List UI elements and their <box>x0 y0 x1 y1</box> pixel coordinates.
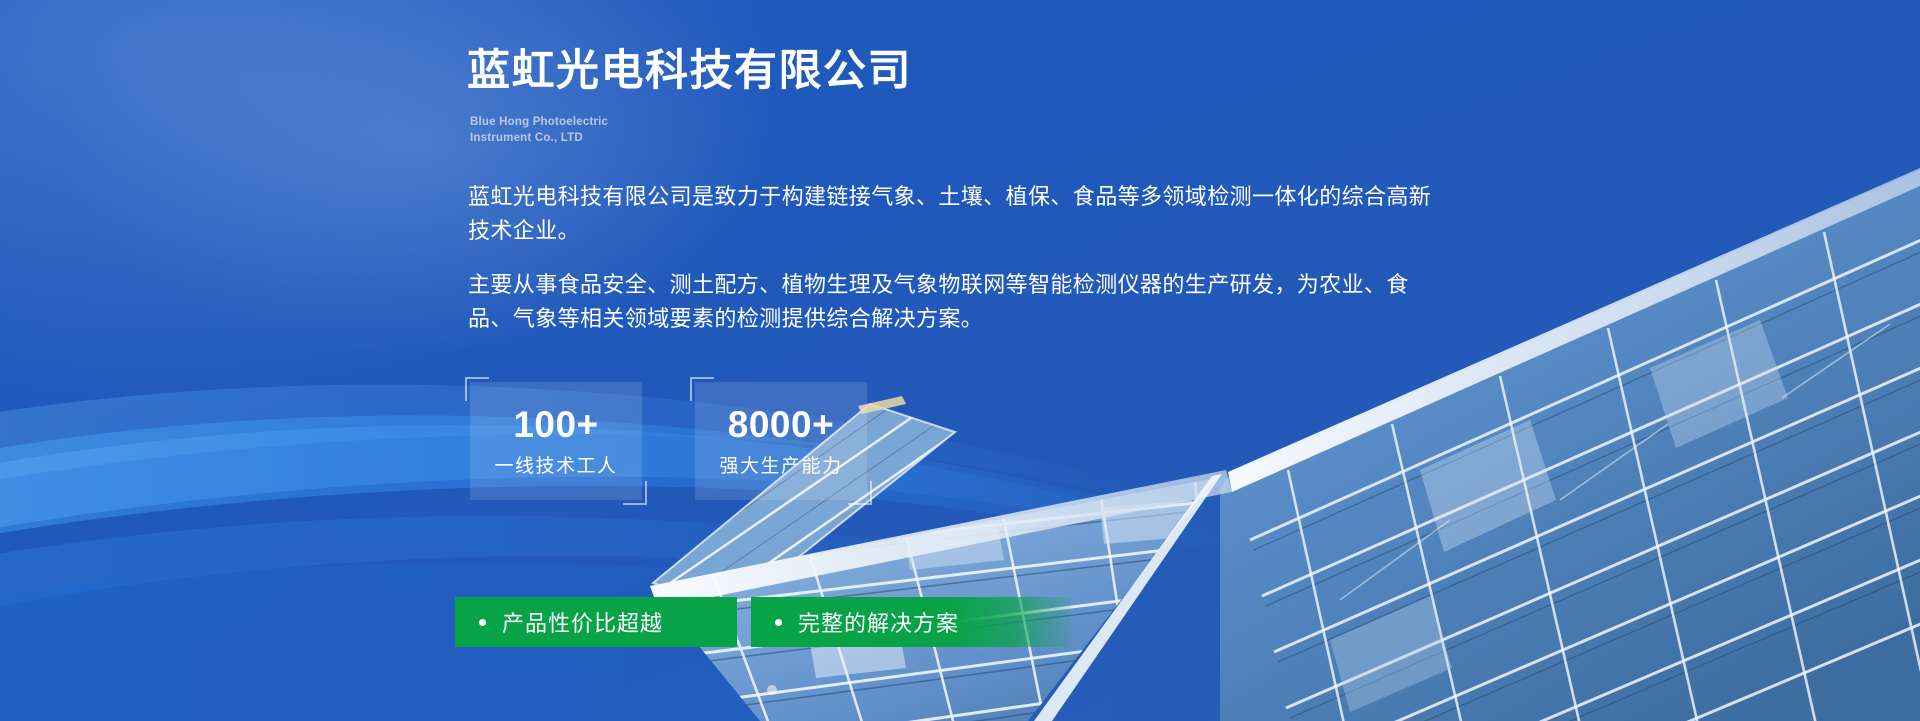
bullet-dot-icon <box>479 619 486 626</box>
description-paragraph-1: 蓝虹光电科技有限公司是致力于构建链接气象、土壤、植保、食品等多领域检测一体化的综… <box>468 180 1453 248</box>
stat-label: 一线技术工人 <box>494 457 617 476</box>
banner-content: 蓝虹光电科技有限公司 Blue Hong Photoelectric Instr… <box>0 0 1920 721</box>
stats-group: 100+ 一线技术工人 8000+ 强大生产能力 <box>470 382 867 500</box>
company-name-en-line1: Blue Hong Photoelectric <box>470 115 608 131</box>
company-description: 蓝虹光电科技有限公司是致力于构建链接气象、土壤、植保、食品等多领域检测一体化的综… <box>468 180 1453 336</box>
hero-banner: 蓝虹光电科技有限公司 Blue Hong Photoelectric Instr… <box>0 0 1920 721</box>
feature-tag-solution: 完整的解决方案 <box>751 597 1071 647</box>
stat-card-workers: 100+ 一线技术工人 <box>470 382 642 500</box>
feature-tag-label: 产品性价比超越 <box>502 606 663 638</box>
feature-tags: 产品性价比超越 完整的解决方案 <box>455 597 1071 647</box>
stat-card-capacity: 8000+ 强大生产能力 <box>695 382 867 500</box>
stat-value: 8000+ <box>728 406 834 443</box>
stat-label: 强大生产能力 <box>719 457 842 476</box>
description-paragraph-2: 主要从事食品安全、测土配方、植物生理及气象物联网等智能检测仪器的生产研发，为农业… <box>468 268 1453 336</box>
company-name-en: Blue Hong Photoelectric Instrument Co., … <box>470 115 608 146</box>
company-name-en-line2: Instrument Co., LTD <box>470 131 608 147</box>
feature-tag-value: 产品性价比超越 <box>455 597 737 647</box>
company-name-cn: 蓝虹光电科技有限公司 <box>467 46 912 97</box>
stat-value: 100+ <box>513 406 598 443</box>
feature-tag-label: 完整的解决方案 <box>798 606 959 638</box>
bullet-dot-icon <box>775 619 782 626</box>
